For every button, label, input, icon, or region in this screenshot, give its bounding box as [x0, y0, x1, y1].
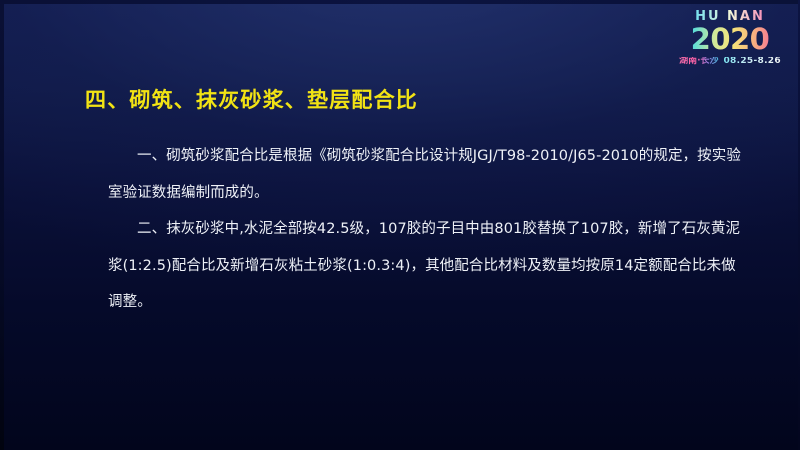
body-paragraph-1: 一、砌筑砂浆配合比是根据《砌筑砂浆配合比设计规JGJ/T98-2010/J65-…: [108, 138, 748, 211]
logo-hunan-text: HU NAN: [665, 8, 795, 23]
logo-subtitle: 湖南·长沙 08.25-8.26: [665, 57, 795, 66]
slide-body: 一、砌筑砂浆配合比是根据《砌筑砂浆配合比设计规JGJ/T98-2010/J65-…: [108, 138, 748, 321]
presentation-slide: HU NAN 2020 湖南·长沙 08.25-8.26 四、砌筑、抹灰砂浆、垫…: [0, 0, 800, 450]
slide-title: 四、砌筑、抹灰砂浆、垫层配合比: [85, 84, 418, 114]
slide-top-border: [0, 0, 800, 4]
event-logo: HU NAN 2020 湖南·长沙 08.25-8.26: [665, 8, 795, 66]
slide-left-border: [0, 0, 4, 450]
logo-city-text: 湖南·长沙: [679, 57, 718, 66]
logo-date-text: 08.25-8.26: [724, 57, 781, 66]
body-paragraph-2: 二、抹灰砂浆中,水泥全部按42.5级，107胶的子目中由801胶替换了107胶，…: [108, 211, 748, 321]
logo-year-text: 2020: [665, 25, 795, 54]
